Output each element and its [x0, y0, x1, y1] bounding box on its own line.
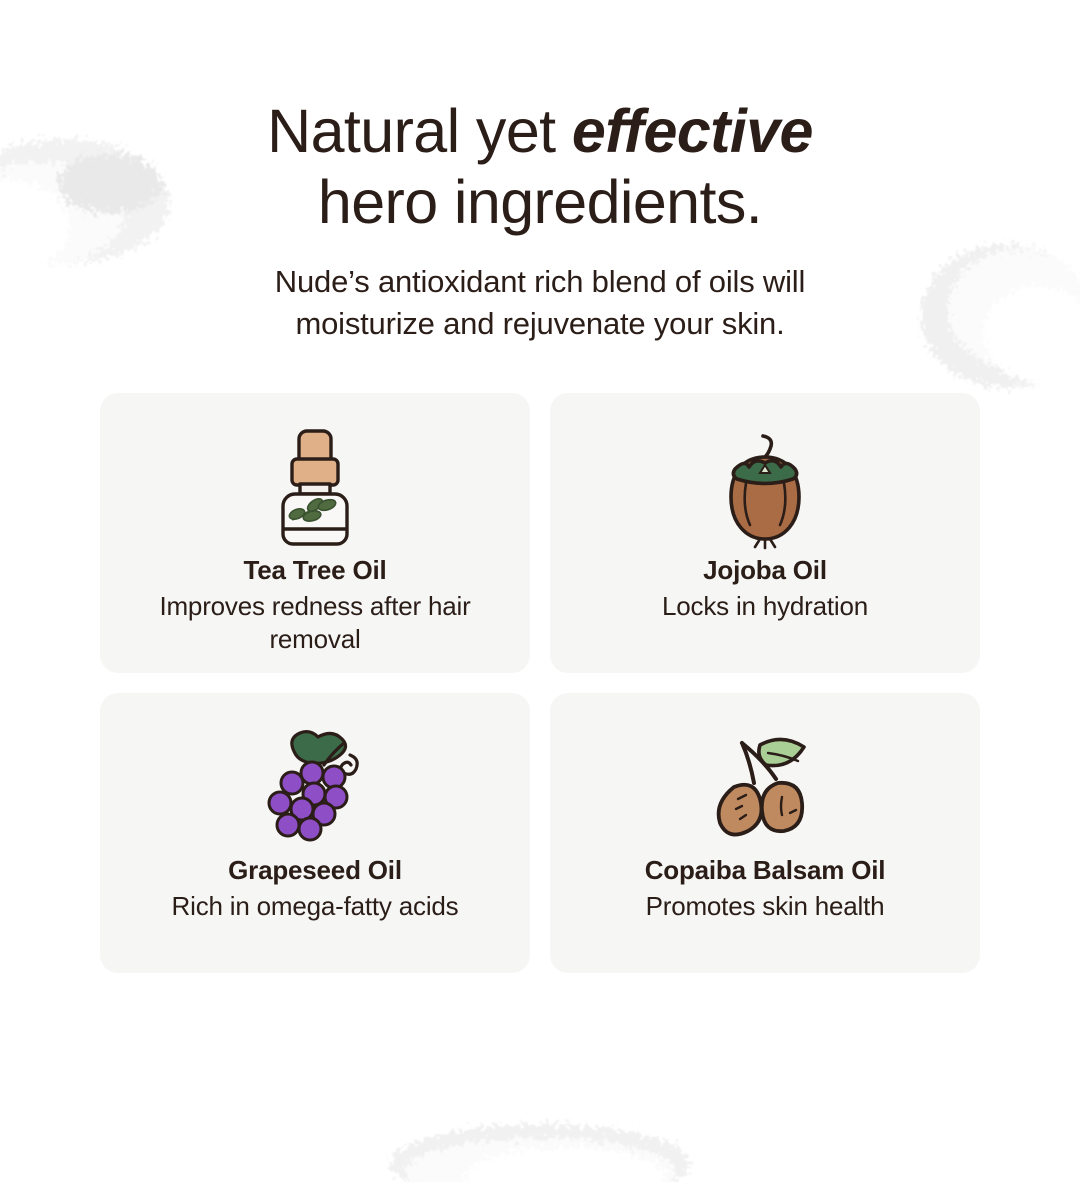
card-title: Jojoba Oil — [703, 555, 827, 586]
page-subtitle: Nude’s antioxidant rich blend of oils wi… — [100, 261, 980, 345]
card-description: Locks in hydration — [662, 590, 868, 623]
ingredient-card-copaiba-balsam-oil: Copaiba Balsam Oil Promotes skin health — [550, 693, 980, 973]
dropper-bottle-icon — [267, 421, 363, 553]
headline-emphasis: effective — [572, 97, 813, 165]
copaiba-seed-pods-icon — [698, 721, 832, 853]
headline-line-1: Natural yet effective — [100, 96, 980, 167]
ingredient-card-grid: Tea Tree Oil Improves redness after hair… — [100, 393, 980, 973]
grape-cluster-icon — [252, 721, 378, 853]
card-description: Promotes skin health — [646, 890, 885, 923]
card-description: Rich in omega-fatty acids — [172, 890, 459, 923]
page-title: Natural yet effective hero ingredients. — [100, 96, 980, 239]
card-title: Tea Tree Oil — [243, 555, 386, 586]
headline-line-2: hero ingredients. — [100, 167, 980, 238]
infographic-page: Natural yet effective hero ingredients. … — [0, 96, 1080, 1176]
ingredient-card-jojoba-oil: Jojoba Oil Locks in hydration — [550, 393, 980, 673]
subtitle-line-1: Nude’s antioxidant rich blend of oils wi… — [100, 261, 980, 303]
jojoba-nut-icon — [710, 421, 820, 553]
subtitle-line-2: moisturize and rejuvenate your skin. — [100, 303, 980, 345]
ingredient-card-grapeseed-oil: Grapeseed Oil Rich in omega-fatty acids — [100, 693, 530, 973]
headline-text-prefix: Natural yet — [267, 97, 572, 165]
ingredient-card-tea-tree-oil: Tea Tree Oil Improves redness after hair… — [100, 393, 530, 673]
card-title: Copaiba Balsam Oil — [645, 855, 886, 886]
card-description: Improves redness after hair removal — [155, 590, 475, 657]
card-title: Grapeseed Oil — [228, 855, 402, 886]
